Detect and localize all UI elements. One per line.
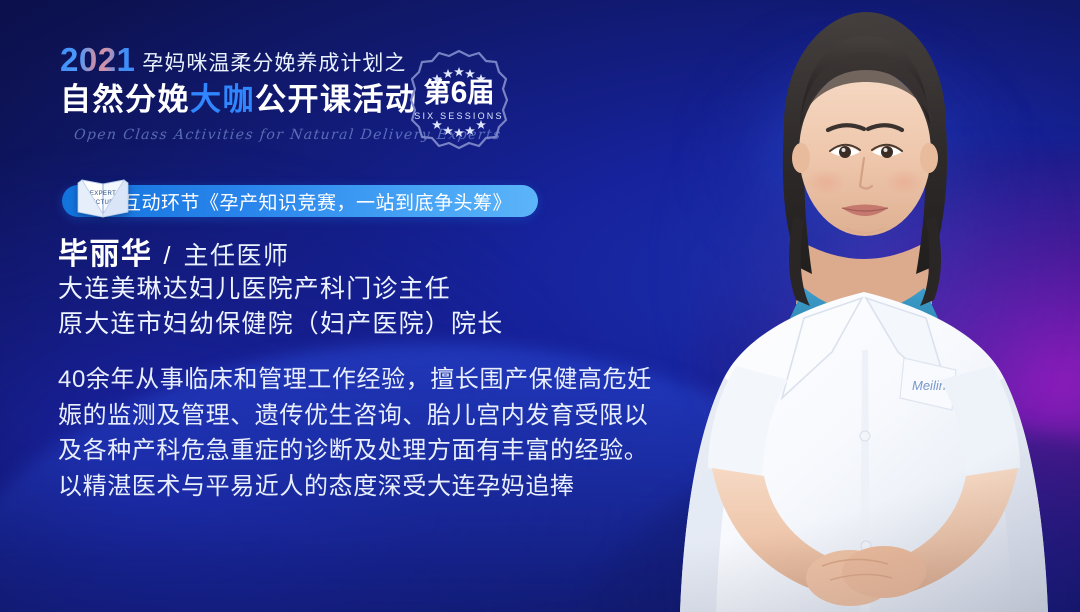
session-badge: 第6届 SIX SESSIONS xyxy=(409,48,509,152)
badge-session-text: 第6届 xyxy=(409,78,509,108)
speaker-name: 毕丽华 xyxy=(58,237,153,272)
session-banner-label: 互动环节《孕产知识竞赛，一站到底争头筹》 xyxy=(122,188,512,215)
speaker-name-separator: / xyxy=(164,242,171,271)
speaker-position-line-1: 大连美琳达妇儿医院产科门诊主任 xyxy=(58,273,678,307)
badge-english-text: SIX SESSIONS xyxy=(409,112,509,121)
header-subtitle-cn: 孕妈咪温柔分娩养成计划之 xyxy=(142,53,406,76)
book-icon-line1: EXPERT xyxy=(90,191,116,197)
session-banner-pill[interactable]: 互动环节《孕产知识竞赛，一站到底争头筹》 xyxy=(62,185,538,217)
speaker-bio: 40余年从事临床和管理工作经验，擅长围产保健高危妊娠的监测及管理、遗传优生咨询、… xyxy=(58,362,658,504)
title-part-1: 自然分娩 xyxy=(60,82,190,117)
badge-suffix: 届 xyxy=(467,78,494,108)
badge-number: 6 xyxy=(451,76,468,109)
speaker-position-line-2: 原大连市妇幼保健院（妇产医院）院长 xyxy=(58,308,678,342)
open-book-icon: EXPERT LECTURE xyxy=(76,176,130,218)
speaker-rank: 主任医师 xyxy=(183,236,289,272)
speaker-name-row: 毕丽华 / 主任医师 xyxy=(58,236,678,272)
year-label: 2021 xyxy=(60,43,135,76)
session-banner[interactable]: 互动环节《孕产知识竞赛，一站到底争头筹》 EXPERT LECTURE xyxy=(62,184,538,218)
poster-canvas: Meilinda xyxy=(0,0,1080,612)
speaker-info: 毕丽华 / 主任医师 大连美琳达妇儿医院产科门诊主任 原大连市妇幼保健院（妇产医… xyxy=(58,236,678,342)
badge-prefix: 第 xyxy=(424,78,451,108)
speaker-bio-text: 40余年从事临床和管理工作经验，擅长围产保健高危妊娠的监测及管理、遗传优生咨询、… xyxy=(58,362,658,504)
title-part-3: 公开课活动 xyxy=(255,82,418,117)
title-part-highlight: 大咖 xyxy=(190,82,255,117)
